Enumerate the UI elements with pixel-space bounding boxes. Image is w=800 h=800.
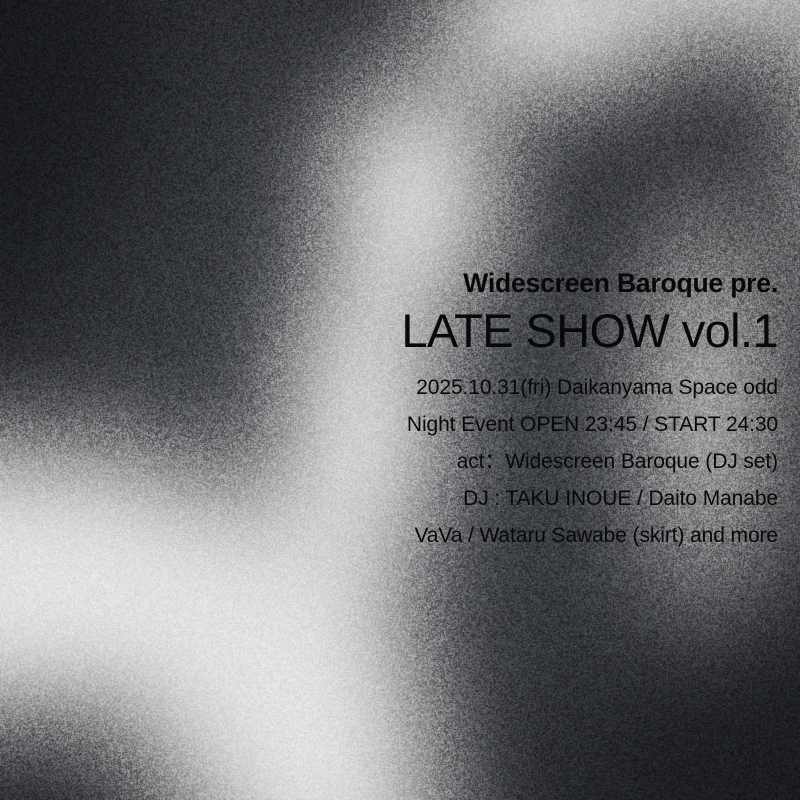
detail-line-act: act：Widescreen Baroque (DJ set) — [218, 443, 778, 480]
detail-line-artists: VaVa / Wataru Sawabe (skirt) and more — [218, 517, 778, 554]
presenter-line: Widescreen Baroque pre. — [218, 268, 778, 299]
poster-text-block: Widescreen Baroque pre. LATE SHOW vol.1 … — [218, 268, 778, 554]
detail-line-time: Night Event OPEN 23:45 / START 24:30 — [218, 406, 778, 443]
event-details-list: 2025.10.31(fri) Daikanyama Space odd Nig… — [218, 369, 778, 554]
detail-line-date-venue: 2025.10.31(fri) Daikanyama Space odd — [218, 369, 778, 406]
detail-line-dj: DJ : TAKU INOUE / Daito Manabe — [218, 480, 778, 517]
event-title: LATE SHOW vol.1 — [218, 305, 778, 358]
poster-canvas: Widescreen Baroque pre. LATE SHOW vol.1 … — [0, 0, 800, 800]
